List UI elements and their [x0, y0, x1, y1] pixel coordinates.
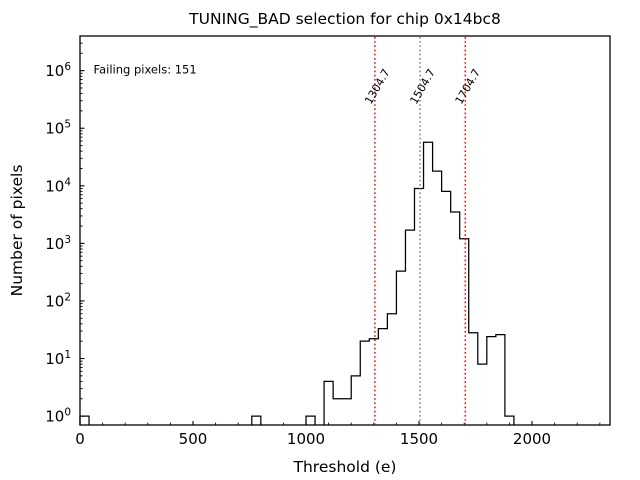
y-tick-label-1e4: 104 — [45, 176, 71, 195]
y-tick-label-1e0: 100 — [45, 407, 71, 426]
histogram-figure: 0500100015002000100101102103104105106130… — [0, 0, 640, 480]
annotation-failing-pixels: Failing pixels: 151 — [94, 62, 197, 76]
y-axis-label: Number of pixels — [8, 165, 26, 297]
plot-frame — [80, 36, 610, 425]
x-axis-label: Threshold (e) — [293, 458, 397, 476]
y-tick-label-1e3: 103 — [45, 234, 71, 253]
x-tick-label-500: 500 — [179, 430, 208, 448]
x-tick-label-0: 0 — [75, 430, 85, 448]
chart-canvas: 0500100015002000100101102103104105106130… — [0, 0, 640, 480]
x-tick-label-1000: 1000 — [287, 430, 325, 448]
chart-title: TUNING_BAD selection for chip 0x14bc8 — [188, 10, 501, 29]
y-tick-label-1e1: 101 — [45, 349, 71, 368]
y-tick-label-1e2: 102 — [45, 291, 71, 310]
x-tick-label-1500: 1500 — [400, 430, 438, 448]
y-tick-label-1e5: 105 — [45, 119, 71, 138]
x-tick-label-2000: 2000 — [513, 430, 551, 448]
y-tick-label-1e6: 106 — [45, 61, 71, 80]
